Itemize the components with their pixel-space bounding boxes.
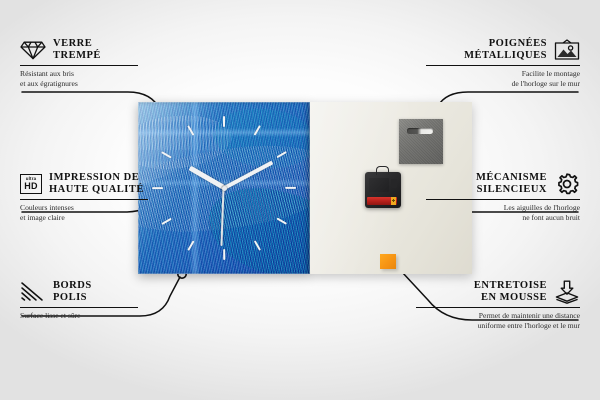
feature-title: IMPRESSION DE HAUTE QUALITÉ bbox=[49, 172, 144, 196]
ultra-hd-badge-icon: ultra HD bbox=[20, 174, 42, 194]
feature-header: POIGNÉES MÉTALLIQUES bbox=[420, 38, 580, 62]
badge-hd-label: HD bbox=[24, 182, 37, 191]
feature-subtitle: Couleurs intenses et image claire bbox=[20, 203, 170, 222]
feature-header: MÉCANISME SILENCIEUX bbox=[420, 172, 580, 196]
feature-header: BORDS POLIS bbox=[20, 280, 160, 304]
feature-divider bbox=[426, 199, 580, 200]
feature-divider bbox=[20, 199, 148, 200]
feature-header: ENTRETOISE EN MOUSSE bbox=[410, 280, 580, 304]
feature-impression-haute-qualite: ultra HD IMPRESSION DE HAUTE QUALITÉ Cou… bbox=[20, 172, 170, 222]
feature-title: BORDS POLIS bbox=[53, 280, 92, 304]
feature-header: ultra HD IMPRESSION DE HAUTE QUALITÉ bbox=[20, 172, 170, 196]
feature-header: VERRE TREMPÉ bbox=[20, 38, 160, 62]
feature-divider bbox=[416, 307, 580, 308]
clock-mechanism bbox=[365, 172, 401, 208]
polished-edge-icon bbox=[20, 281, 46, 303]
feature-title: VERRE TREMPÉ bbox=[53, 38, 101, 62]
mechanism-hook bbox=[376, 166, 389, 175]
feature-verre-trempe: VERRE TREMPÉ Résistant aux bris et aux é… bbox=[20, 38, 160, 88]
feature-bords-polis: BORDS POLIS Surface lisse et sûre bbox=[20, 280, 160, 321]
feature-divider bbox=[20, 307, 138, 308]
mechanism-body-panel bbox=[369, 178, 389, 192]
hanger-slot bbox=[407, 128, 433, 134]
feature-subtitle: Surface lisse et sûre bbox=[20, 311, 160, 321]
feature-title: POIGNÉES MÉTALLIQUES bbox=[464, 38, 547, 62]
feature-subtitle: Permet de maintenir une distance uniform… bbox=[410, 311, 580, 330]
feature-subtitle: Facilite le montage de l'horloge sur le … bbox=[420, 69, 580, 88]
picture-frame-icon bbox=[554, 39, 580, 61]
product-infographic: VERRE TREMPÉ Résistant aux bris et aux é… bbox=[0, 0, 600, 400]
battery bbox=[367, 197, 397, 205]
foam-spacer bbox=[380, 254, 396, 269]
diamond-icon bbox=[20, 39, 46, 61]
feature-poignees-metalliques: POIGNÉES MÉTALLIQUES Facilite le montage… bbox=[420, 38, 580, 88]
gear-icon bbox=[554, 172, 580, 196]
mechanism-dial bbox=[391, 179, 397, 188]
metal-hanger-plate bbox=[399, 119, 443, 164]
feature-entretoise-en-mousse: ENTRETOISE EN MOUSSE Permet de maintenir… bbox=[410, 280, 580, 330]
feature-mecanisme-silencieux: MÉCANISME SILENCIEUX Les aiguilles de l'… bbox=[420, 172, 580, 222]
feature-title: MÉCANISME SILENCIEUX bbox=[476, 172, 547, 196]
battery-terminal bbox=[391, 197, 396, 205]
feature-title: ENTRETOISE EN MOUSSE bbox=[474, 280, 547, 304]
foam-spacer-icon bbox=[554, 280, 580, 304]
feature-subtitle: Résistant aux bris et aux égratignures bbox=[20, 69, 160, 88]
feature-divider bbox=[20, 65, 138, 66]
feature-divider bbox=[426, 65, 580, 66]
feature-subtitle: Les aiguilles de l'horloge ne font aucun… bbox=[420, 203, 580, 222]
